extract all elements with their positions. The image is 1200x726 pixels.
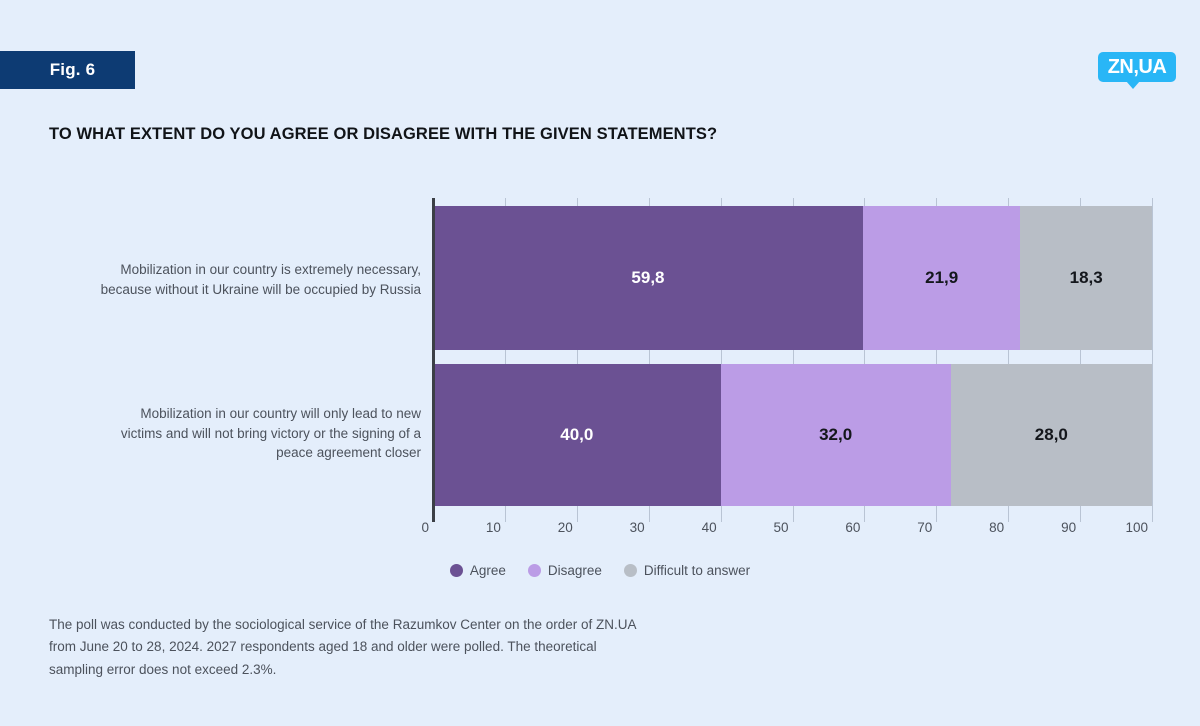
chart-legend: AgreeDisagreeDifficult to answer: [0, 563, 1200, 578]
bar-value-label: 32,0: [819, 425, 852, 445]
legend-swatch-icon: [450, 564, 463, 577]
plot-area: 59,821,918,3 40,032,028,0: [433, 198, 1152, 508]
bar-segment-difficult-to-answer: 28,0: [951, 364, 1152, 506]
tick-label: 80: [989, 520, 1004, 535]
logo-bubble-icon: ZN,UA: [1098, 52, 1176, 82]
znua-logo: ZN,UA: [1098, 52, 1176, 82]
tick-mark: [505, 508, 506, 522]
tick-mark: [1080, 508, 1081, 522]
tick-mark: [432, 508, 435, 522]
legend-swatch-icon: [528, 564, 541, 577]
bar-value-label: 40,0: [560, 425, 593, 445]
bar-row: 59,821,918,3: [433, 206, 1152, 350]
legend-item[interactable]: Agree: [450, 563, 506, 578]
legend-swatch-icon: [624, 564, 637, 577]
category-label-1: Mobilization in our country will only le…: [26, 404, 421, 463]
bar-segment-agree: 59,8: [433, 206, 863, 350]
tick-mark: [1152, 508, 1153, 522]
category-label-line: Mobilization in our country is extremely…: [26, 260, 421, 280]
bar-value-label: 18,3: [1070, 268, 1103, 288]
tick-label: 20: [558, 520, 573, 535]
legend-label: Agree: [470, 563, 506, 578]
bar-segment-disagree: 21,9: [863, 206, 1020, 350]
bar-segment-agree: 40,0: [433, 364, 721, 506]
category-label-group: Mobilization in our country is extremely…: [0, 198, 421, 508]
x-axis-ticks: 0102030405060708090100: [433, 508, 1152, 538]
tick-mark: [1008, 508, 1009, 522]
bar-value-label: 21,9: [925, 268, 958, 288]
gridline: [1152, 198, 1153, 508]
bar-segment-disagree: 32,0: [721, 364, 951, 506]
category-label-0: Mobilization in our country is extremely…: [26, 260, 421, 299]
bar-value-label: 59,8: [631, 268, 664, 288]
category-label-line: because without it Ukraine will be occup…: [26, 280, 421, 300]
figure-badge: Fig. 6: [0, 51, 135, 89]
tick-label: 10: [486, 520, 501, 535]
tick-mark: [577, 508, 578, 522]
tick-mark: [864, 508, 865, 522]
tick-mark: [793, 508, 794, 522]
tick-label: 30: [630, 520, 645, 535]
tick-label: 60: [845, 520, 860, 535]
logo-text: ZN,UA: [1108, 57, 1167, 77]
legend-label: Difficult to answer: [644, 563, 750, 578]
category-label-line: Mobilization in our country will only le…: [26, 404, 421, 424]
tick-label: 50: [773, 520, 788, 535]
tick-label: 70: [917, 520, 932, 535]
tick-mark: [721, 508, 722, 522]
legend-item[interactable]: Disagree: [528, 563, 602, 578]
tick-mark: [649, 508, 650, 522]
legend-item[interactable]: Difficult to answer: [624, 563, 750, 578]
bar-value-label: 28,0: [1035, 425, 1068, 445]
tick-label: 100: [1125, 520, 1148, 535]
tick-mark: [936, 508, 937, 522]
tick-label: 0: [421, 520, 429, 535]
bar-segment-difficult-to-answer: 18,3: [1020, 206, 1152, 350]
bar-row: 40,032,028,0: [433, 364, 1152, 506]
category-label-line: victims and will not bring victory or th…: [26, 424, 421, 444]
legend-label: Disagree: [548, 563, 602, 578]
figure-badge-label: Fig. 6: [50, 60, 96, 80]
category-label-line: peace agreement closer: [26, 443, 421, 463]
tick-label: 90: [1061, 520, 1076, 535]
footnote: The poll was conducted by the sociologic…: [49, 614, 649, 681]
y-axis-line: [432, 198, 435, 508]
page-title: TO WHAT EXTENT DO YOU AGREE OR DISAGREE …: [49, 121, 749, 148]
tick-label: 40: [702, 520, 717, 535]
